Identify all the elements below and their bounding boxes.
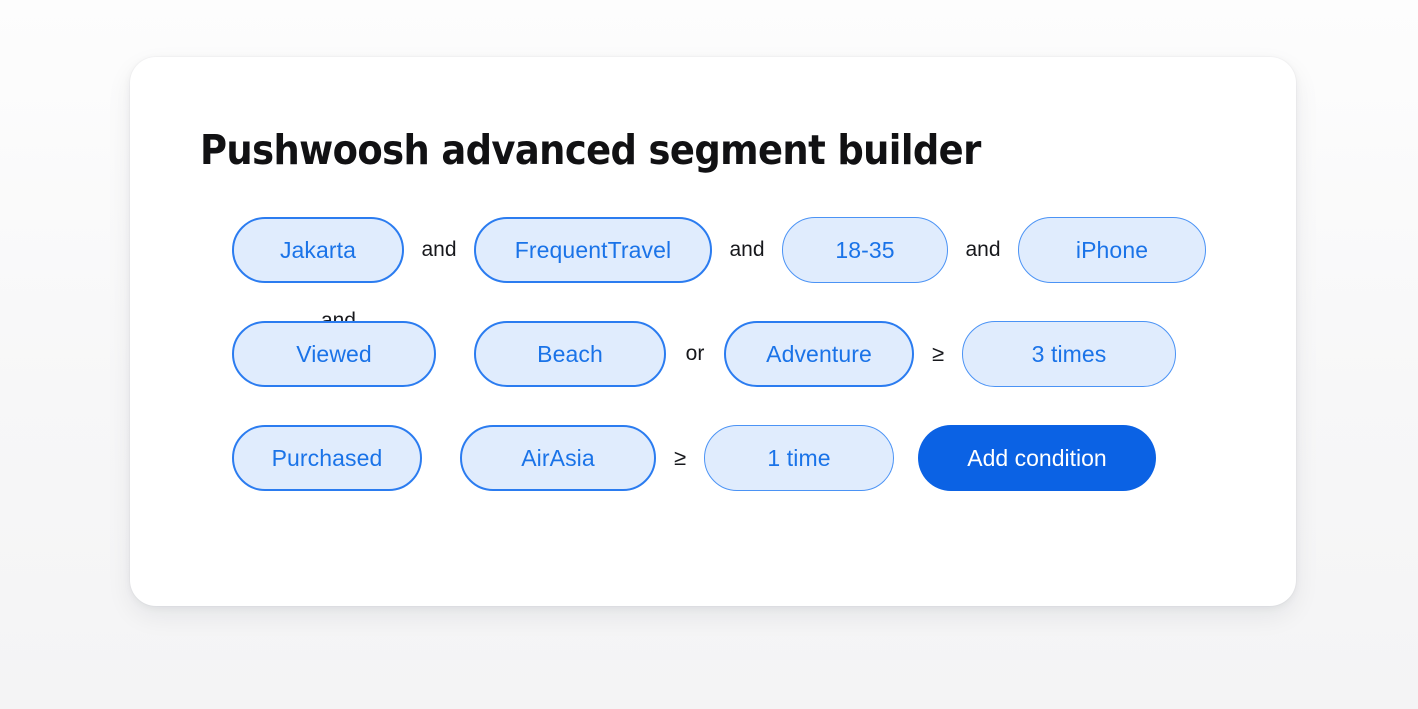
condition-pill-3-times[interactable]: 3 times: [962, 321, 1176, 387]
operator-and[interactable]: and: [948, 238, 1018, 262]
condition-pill-airasia[interactable]: AirAsia: [460, 425, 656, 491]
condition-row: Viewed Beach or Adventure ≥ 3 times: [232, 321, 1296, 387]
condition-pill-iphone[interactable]: iPhone: [1018, 217, 1206, 283]
condition-pill-frequenttravel[interactable]: FrequentTravel: [474, 217, 712, 283]
condition-pill-age-range[interactable]: 18-35: [782, 217, 948, 283]
page-root: Pushwoosh advanced segment builder and o…: [0, 0, 1418, 709]
condition-row: Purchased AirAsia ≥ 1 time Add condition: [232, 425, 1296, 491]
operator-and[interactable]: and: [404, 238, 474, 262]
condition-pill-viewed[interactable]: Viewed: [232, 321, 436, 387]
operator-and[interactable]: and: [712, 238, 782, 262]
segment-builder-card: Pushwoosh advanced segment builder and o…: [130, 57, 1296, 606]
condition-pill-1-time[interactable]: 1 time: [704, 425, 894, 491]
condition-row: Jakarta and FrequentTravel and 18-35 and…: [232, 217, 1296, 283]
page-title: Pushwoosh advanced segment builder: [200, 126, 981, 174]
condition-pill-beach[interactable]: Beach: [474, 321, 666, 387]
segment-builder: and or Jakarta and FrequentTravel and 18…: [130, 217, 1296, 491]
operator-or[interactable]: or: [666, 342, 724, 366]
condition-pill-adventure[interactable]: Adventure: [724, 321, 914, 387]
add-condition-button[interactable]: Add condition: [918, 425, 1156, 491]
condition-pill-jakarta[interactable]: Jakarta: [232, 217, 404, 283]
operator-greater-equal[interactable]: ≥: [914, 341, 962, 367]
condition-pill-purchased[interactable]: Purchased: [232, 425, 422, 491]
operator-greater-equal[interactable]: ≥: [656, 445, 704, 471]
